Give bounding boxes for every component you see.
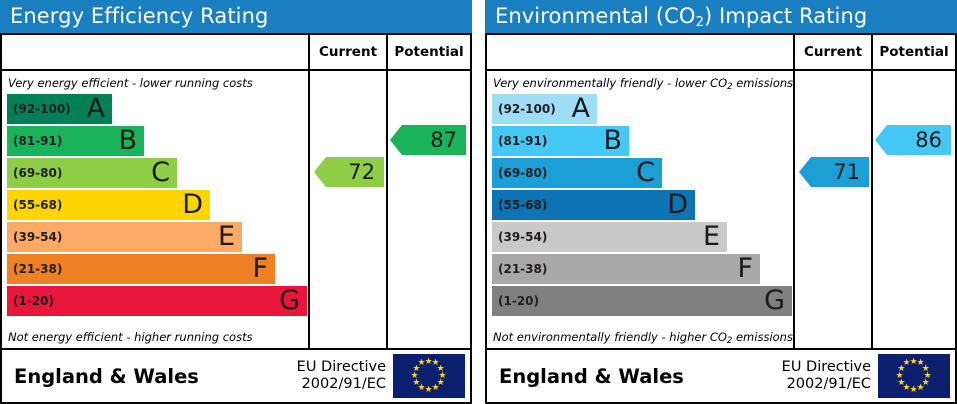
co2-directive-line2: 2002/91/EC xyxy=(782,376,871,393)
energy-band-list: (92-100) A (81-91) B (69-80) C (55-68) xyxy=(7,94,307,318)
co2-table-header-row: Current Potential xyxy=(487,35,955,71)
co2-potential-column: 86 xyxy=(873,71,955,348)
band-f-range: (21-38) xyxy=(492,262,547,276)
eu-star-6: ★ xyxy=(917,384,925,393)
band-g-letter: G xyxy=(279,287,300,314)
band-e-letter: E xyxy=(218,223,235,250)
energy-table-header-row: Current Potential xyxy=(2,35,470,71)
band-g-letter: G xyxy=(764,287,785,314)
eu-star-7: ★ xyxy=(425,386,433,395)
band-c-range: (69-80) xyxy=(7,166,62,180)
co2-caption-bottom: Not environmentally friendly - higher CO… xyxy=(493,330,793,344)
header-cell-current: Current xyxy=(310,35,388,69)
co2-impact-panel: Environmental (CO2) Impact Rating Curren… xyxy=(485,0,957,404)
energy-efficiency-title: Energy Efficiency Rating xyxy=(10,4,268,28)
band-c-range: (69-80) xyxy=(492,166,547,180)
band-c: (69-80) C xyxy=(7,158,177,188)
band-g-range: (1-20) xyxy=(7,294,54,308)
band-a-range: (92-100) xyxy=(7,102,71,116)
header-cell-blank xyxy=(2,35,310,69)
energy-directive-line1: EU Directive xyxy=(297,359,386,376)
energy-chart-row: Very energy efficient - lower running co… xyxy=(2,71,470,350)
header-cell-blank xyxy=(487,35,795,69)
band-e-letter: E xyxy=(703,223,720,250)
co2-impact-table: Current Potential Very environmentally f… xyxy=(485,33,957,404)
energy-directive-line2: 2002/91/EC xyxy=(297,376,386,393)
band-d-range: (55-68) xyxy=(7,198,62,212)
eu-flag-icon: ★★★★★★★★★★★★ xyxy=(878,354,950,398)
band-e-range: (39-54) xyxy=(7,230,62,244)
band-g: (1-20) G xyxy=(492,286,792,316)
band-a-letter: A xyxy=(572,95,590,122)
band-e: (39-54) E xyxy=(7,222,242,252)
band-g-range: (1-20) xyxy=(492,294,539,308)
band-f-range: (21-38) xyxy=(7,262,62,276)
eu-star-7: ★ xyxy=(910,386,918,395)
co2-band-list: (92-100) A (81-91) B (69-80) C (55-68) xyxy=(492,94,792,318)
co2-footer-directive: EU Directive 2002/91/EC xyxy=(782,359,878,393)
co2-impact-title-tail: ) Impact Rating xyxy=(704,4,867,28)
energy-potential-column: 87 xyxy=(388,71,470,348)
co2-impact-title: Environmental (CO xyxy=(495,4,696,28)
energy-footer-directive: EU Directive 2002/91/EC xyxy=(297,359,393,393)
energy-footer-region: England & Wales xyxy=(2,365,297,388)
band-g: (1-20) G xyxy=(7,286,307,316)
band-b-range: (81-91) xyxy=(492,134,547,148)
band-f: (21-38) F xyxy=(492,254,760,284)
energy-caption-bottom: Not energy efficient - higher running co… xyxy=(8,330,253,344)
band-c-letter: C xyxy=(151,159,170,186)
co2-current-value: 71 xyxy=(833,160,860,184)
eu-star-6: ★ xyxy=(432,384,440,393)
co2-footer: England & Wales EU Directive 2002/91/EC … xyxy=(487,350,955,402)
energy-footer: England & Wales EU Directive 2002/91/EC … xyxy=(2,350,470,402)
band-e-range: (39-54) xyxy=(492,230,547,244)
energy-efficiency-panel: Energy Efficiency Rating Current Potenti… xyxy=(0,0,472,404)
band-d-range: (55-68) xyxy=(492,198,547,212)
energy-efficiency-table: Current Potential Very energy efficient … xyxy=(0,33,472,404)
energy-caption-top: Very energy efficient - lower running co… xyxy=(8,76,253,90)
band-c: (69-80) C xyxy=(492,158,662,188)
co2-bands-column: Very environmentally friendly - lower CO… xyxy=(487,71,795,348)
header-cell-current: Current xyxy=(795,35,873,69)
band-a: (92-100) A xyxy=(7,94,112,124)
band-a: (92-100) A xyxy=(492,94,597,124)
energy-potential-value: 87 xyxy=(430,128,457,152)
co2-potential-value: 86 xyxy=(915,128,942,152)
co2-caption-top: Very environmentally friendly - lower CO… xyxy=(493,76,793,90)
band-c-letter: C xyxy=(636,159,655,186)
band-f: (21-38) F xyxy=(7,254,275,284)
band-d-letter: D xyxy=(182,191,203,218)
eu-star-12: ★ xyxy=(418,359,426,368)
band-d: (55-68) D xyxy=(492,190,695,220)
co2-footer-region: England & Wales xyxy=(487,365,782,388)
energy-efficiency-banner: Energy Efficiency Rating xyxy=(0,0,472,33)
band-e: (39-54) E xyxy=(492,222,727,252)
epc-chart-pair: Energy Efficiency Rating Current Potenti… xyxy=(0,0,957,404)
co2-current-column: 71 xyxy=(795,71,873,348)
co2-current-rating-arrow: 71 xyxy=(799,157,869,187)
band-d: (55-68) D xyxy=(7,190,210,220)
energy-bands-column: Very energy efficient - lower running co… xyxy=(2,71,310,348)
header-cell-potential: Potential xyxy=(388,35,470,69)
band-b-letter: B xyxy=(118,127,137,154)
co2-directive-line1: EU Directive xyxy=(782,359,871,376)
band-b-range: (81-91) xyxy=(7,134,62,148)
energy-current-rating-arrow: 72 xyxy=(314,157,384,187)
band-d-letter: D xyxy=(667,191,688,218)
co2-title-subscript: 2 xyxy=(696,15,704,30)
energy-current-column: 72 xyxy=(310,71,388,348)
co2-chart-row: Very environmentally friendly - lower CO… xyxy=(487,71,955,350)
band-f-letter: F xyxy=(252,255,268,282)
energy-potential-rating-arrow: 87 xyxy=(390,125,466,155)
band-a-range: (92-100) xyxy=(492,102,556,116)
band-b: (81-91) B xyxy=(492,126,629,156)
band-a-letter: A xyxy=(87,95,105,122)
band-b-letter: B xyxy=(603,127,622,154)
eu-flag-icon: ★★★★★★★★★★★★ xyxy=(393,354,465,398)
co2-impact-banner: Environmental (CO2) Impact Rating xyxy=(485,0,957,33)
header-cell-potential: Potential xyxy=(873,35,955,69)
band-b: (81-91) B xyxy=(7,126,144,156)
band-f-letter: F xyxy=(737,255,753,282)
co2-potential-rating-arrow: 86 xyxy=(875,125,951,155)
eu-star-12: ★ xyxy=(903,359,911,368)
energy-current-value: 72 xyxy=(348,160,375,184)
